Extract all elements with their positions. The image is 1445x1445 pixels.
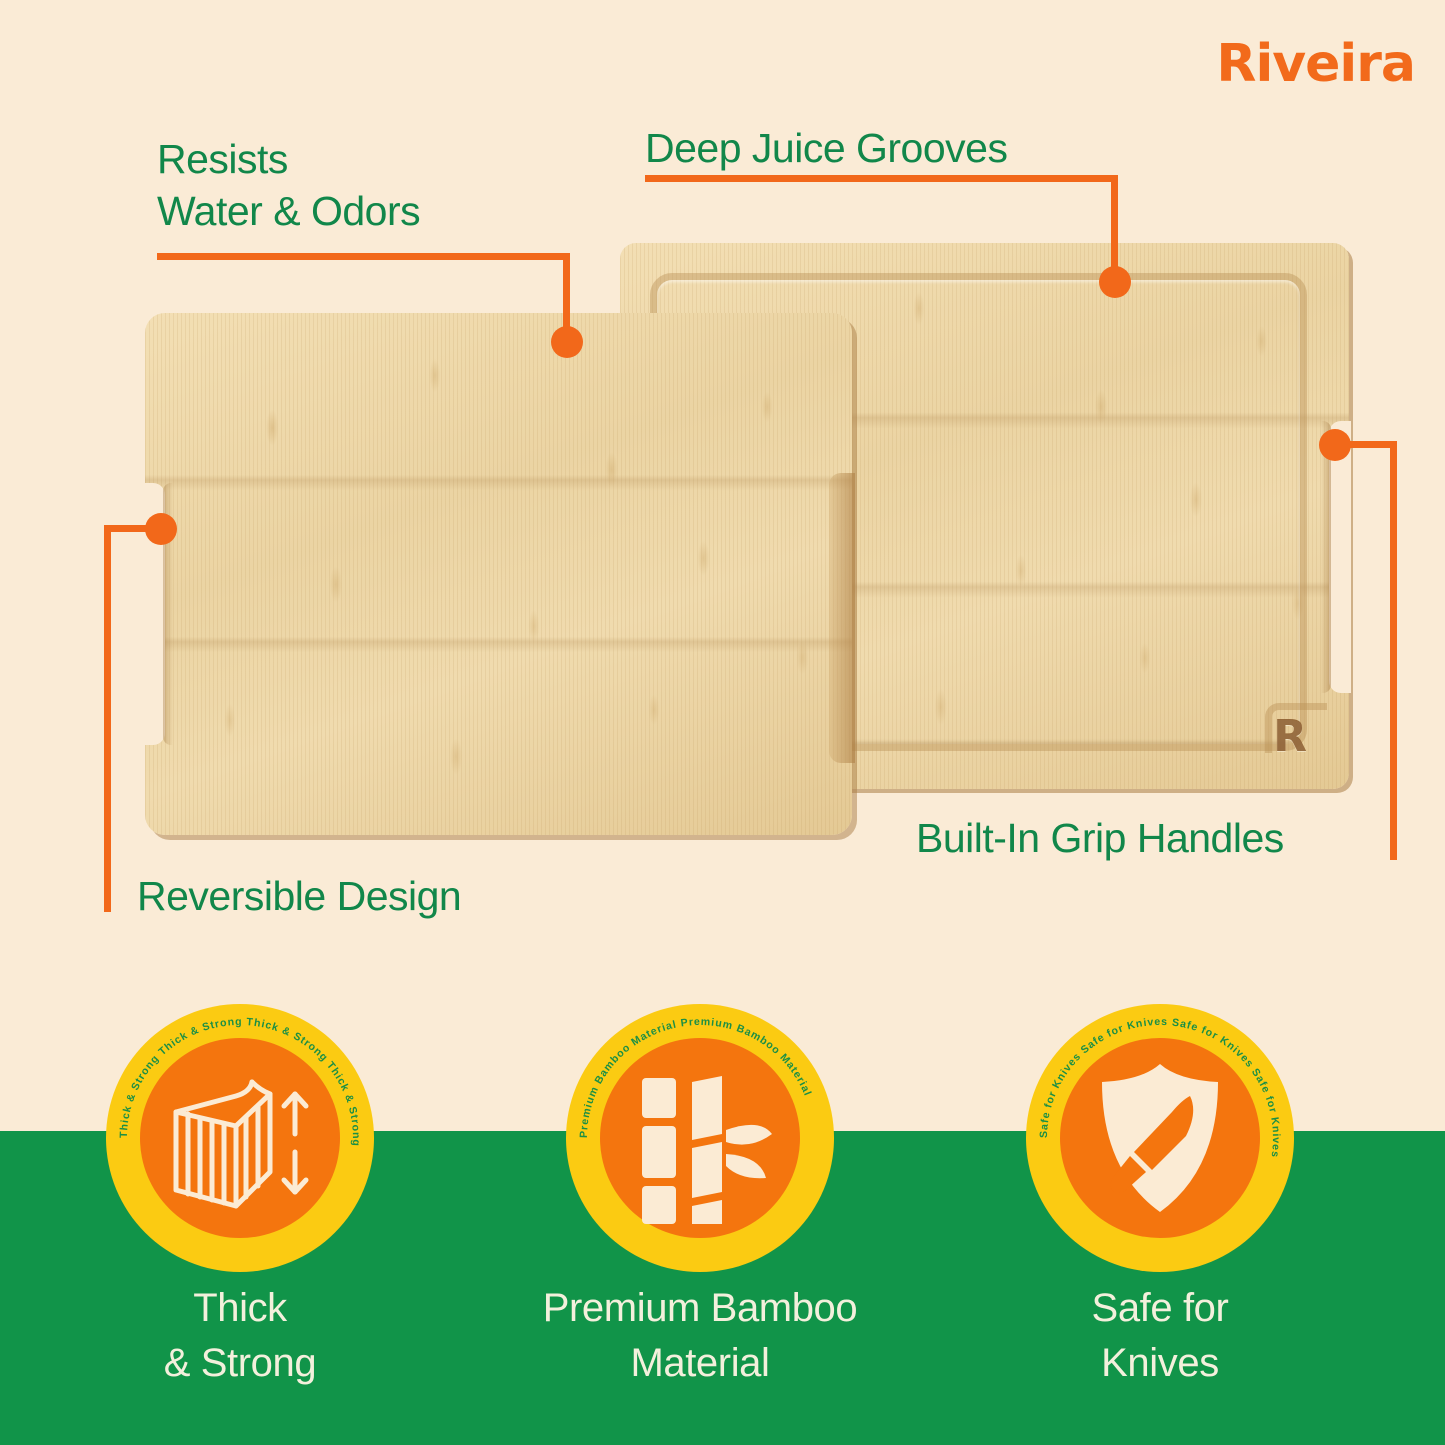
board-thickness-icon xyxy=(140,1038,340,1238)
infographic-canvas: Riveira R Resists Water & Odors Deep Jui… xyxy=(0,0,1445,1445)
badge-safe-for-knives: Safe for Knives Safe for Knives Safe for… xyxy=(1026,1004,1294,1272)
leader-line-reversible-vertical xyxy=(104,525,111,912)
callout-label-deep-juice-grooves: Deep Juice Grooves xyxy=(645,122,1007,174)
badge-thick-and-strong: Thick & Strong Thick & Strong Thick & St… xyxy=(106,1004,374,1272)
callout-dot-juice-grooves xyxy=(1099,266,1131,298)
callout-label-reversible-design: Reversible Design xyxy=(137,870,461,922)
shield-knife-icon xyxy=(1060,1038,1260,1238)
callout-label-built-in-grip-handles: Built-In Grip Handles xyxy=(916,812,1284,864)
leader-line-juice-grooves-horizontal xyxy=(645,175,1118,182)
badge-caption-thick-and-strong: Thick & Strong xyxy=(30,1281,450,1391)
grip-handle-notch-right xyxy=(1329,421,1351,693)
callout-dot-grip-handles xyxy=(1319,429,1351,461)
callout-label-resists-water-odors: Resists Water & Odors xyxy=(157,133,420,238)
leader-line-grip-handles-vertical xyxy=(1390,441,1397,860)
callout-dot-resists-water xyxy=(551,326,583,358)
board-brand-monogram: R xyxy=(1273,715,1307,759)
brand-logo: Riveira xyxy=(1216,34,1415,94)
badge-premium-bamboo-material: Premium Bamboo Material Premium Bamboo M… xyxy=(566,1004,834,1272)
bamboo-stalks-icon xyxy=(600,1038,800,1238)
grip-handle-notch-right-shadow xyxy=(1321,421,1331,693)
callout-dot-reversible-design xyxy=(145,513,177,545)
badge-caption-safe-for-knives: Safe for Knives xyxy=(950,1281,1370,1391)
leader-line-resists-water-horizontal xyxy=(157,253,569,260)
grip-handle-notch-front-right xyxy=(829,473,855,763)
badge-caption-premium-bamboo-material: Premium Bamboo Material xyxy=(490,1281,910,1391)
cutting-board-front xyxy=(145,313,852,835)
